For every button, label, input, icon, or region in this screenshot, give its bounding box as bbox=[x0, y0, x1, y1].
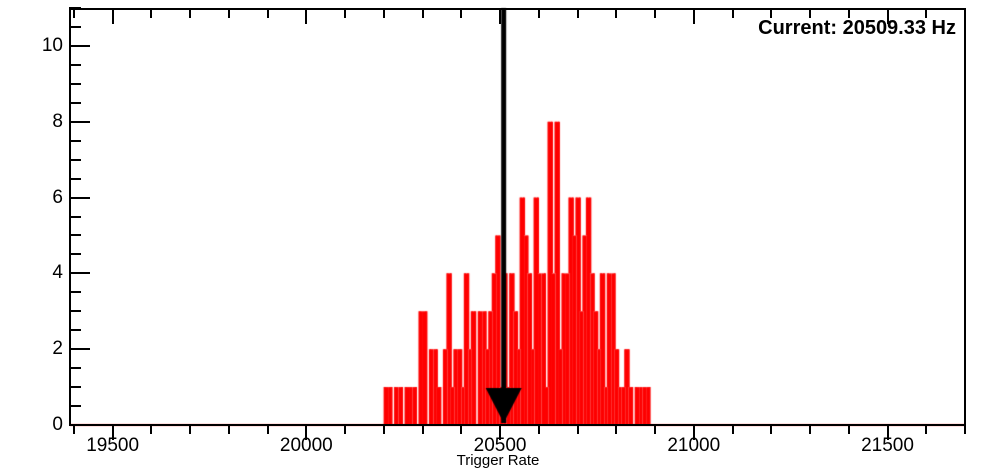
x-axis-minor-tick bbox=[577, 426, 579, 434]
y-axis-minor-tick bbox=[69, 26, 81, 28]
y-axis-tick-label: 10 bbox=[3, 36, 63, 55]
x-axis-minor-tick bbox=[460, 426, 462, 434]
x-axis-minor-tick bbox=[344, 426, 346, 434]
x-axis-minor-tick bbox=[732, 426, 734, 434]
x-axis-top-tick bbox=[499, 10, 501, 24]
x-axis-top-tick bbox=[267, 10, 269, 18]
x-axis-top-tick bbox=[615, 10, 617, 18]
x-axis-minor-tick bbox=[150, 426, 152, 434]
y-axis-major-tick bbox=[69, 121, 90, 123]
x-axis-minor-tick bbox=[538, 426, 540, 434]
y-axis-minor-tick bbox=[69, 216, 81, 218]
x-axis-top-tick bbox=[189, 10, 191, 18]
y-axis-minor-tick bbox=[69, 386, 81, 388]
x-axis-minor-tick bbox=[925, 426, 927, 434]
y-axis-minor-tick bbox=[69, 102, 81, 104]
y-axis-minor-tick bbox=[69, 291, 81, 293]
y-axis-tick-label: 8 bbox=[3, 112, 63, 131]
x-axis-minor-tick bbox=[189, 426, 191, 434]
chart-root: 0246810 1950020000205002100021500 Trigge… bbox=[0, 0, 996, 472]
x-axis-line bbox=[69, 424, 966, 426]
x-axis-top-tick bbox=[112, 10, 114, 24]
y-axis-tick-label: 4 bbox=[3, 263, 63, 282]
y-axis-tick-label: 6 bbox=[3, 188, 63, 207]
x-axis-minor-tick bbox=[422, 426, 424, 434]
x-axis-top-tick bbox=[577, 10, 579, 18]
x-axis-minor-tick bbox=[809, 426, 811, 434]
x-axis-minor-tick bbox=[654, 426, 656, 434]
x-axis-top-tick bbox=[73, 10, 75, 18]
x-axis-top-tick bbox=[964, 10, 966, 18]
y-axis-tick-label: 2 bbox=[3, 339, 63, 358]
y-axis-major-tick bbox=[69, 348, 90, 350]
x-axis-top-tick bbox=[654, 10, 656, 18]
x-axis-top-tick bbox=[228, 10, 230, 18]
y-axis-minor-tick bbox=[69, 405, 81, 407]
y-axis-minor-tick bbox=[69, 367, 81, 369]
plot-frame bbox=[69, 8, 966, 426]
y-axis-minor-tick bbox=[69, 253, 81, 255]
y-axis-minor-tick bbox=[69, 329, 81, 331]
y-axis-major-tick bbox=[69, 272, 90, 274]
y-axis-minor-tick bbox=[69, 159, 81, 161]
x-axis-top-tick bbox=[150, 10, 152, 18]
y-axis-major-tick bbox=[69, 45, 90, 47]
y-axis-minor-tick bbox=[69, 140, 81, 142]
y-axis-major-tick bbox=[69, 197, 90, 199]
x-axis-minor-tick bbox=[964, 426, 966, 434]
x-axis-top-tick bbox=[344, 10, 346, 18]
y-axis-minor-tick bbox=[69, 178, 81, 180]
y-axis-tick-label: 0 bbox=[3, 415, 63, 434]
x-axis-top-tick bbox=[538, 10, 540, 18]
x-axis-minor-tick bbox=[383, 426, 385, 434]
x-axis-minor-tick bbox=[615, 426, 617, 434]
y-axis-minor-tick bbox=[69, 64, 81, 66]
x-axis-title: Trigger Rate bbox=[0, 452, 996, 469]
x-axis-minor-tick bbox=[848, 426, 850, 434]
x-axis-top-tick bbox=[383, 10, 385, 18]
y-axis-minor-tick bbox=[69, 83, 81, 85]
x-axis-top-tick bbox=[422, 10, 424, 18]
y-axis-minor-tick bbox=[69, 310, 81, 312]
current-rate-readout: Current: 20509.33 Hz bbox=[758, 17, 956, 40]
y-axis-minor-tick bbox=[69, 234, 81, 236]
x-axis-minor-tick bbox=[73, 426, 75, 434]
y-axis-minor-tick bbox=[69, 7, 81, 9]
x-axis-minor-tick bbox=[770, 426, 772, 434]
x-axis-top-tick bbox=[693, 10, 695, 24]
x-axis-minor-tick bbox=[228, 426, 230, 434]
x-axis-minor-tick bbox=[267, 426, 269, 434]
x-axis-top-tick bbox=[732, 10, 734, 18]
x-axis-top-tick bbox=[305, 10, 307, 24]
x-axis-top-tick bbox=[460, 10, 462, 18]
